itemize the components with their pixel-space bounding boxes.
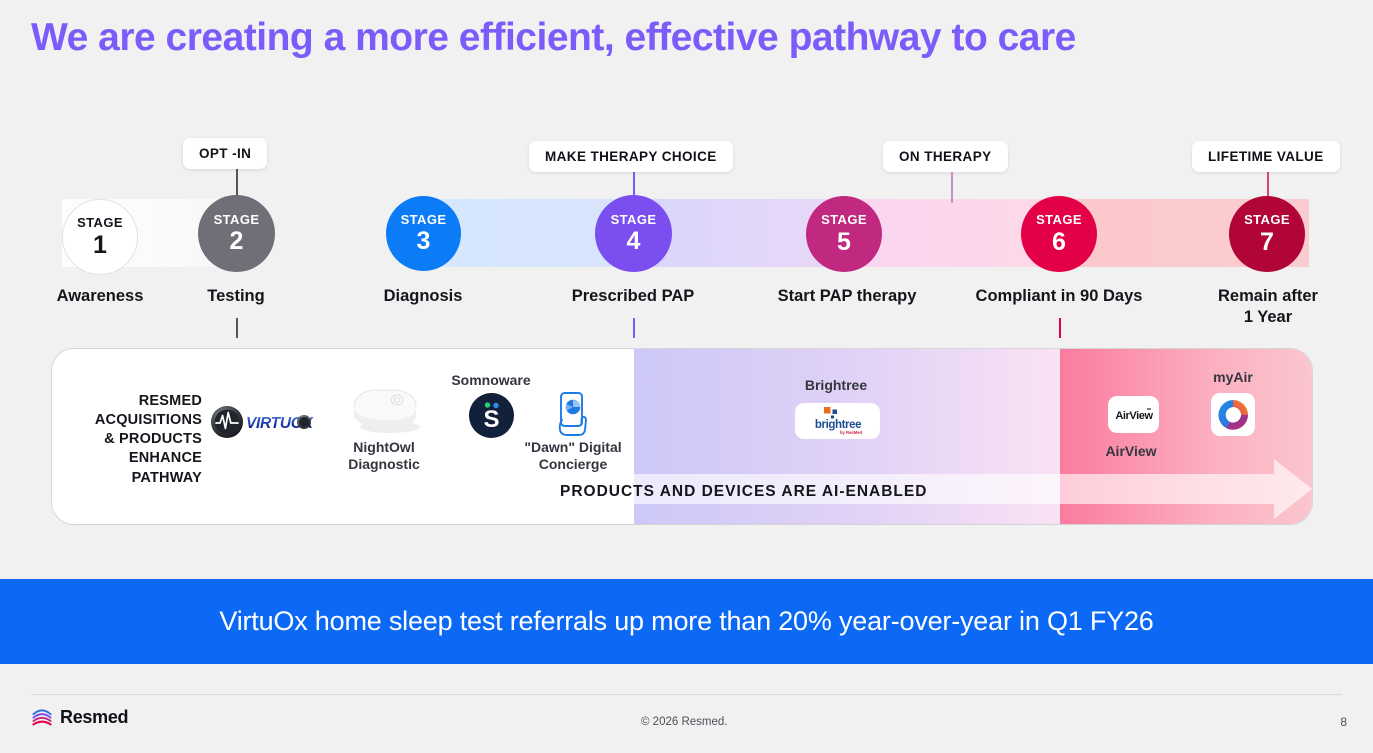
page-title: We are creating a more efficient, effect… [31, 16, 1076, 60]
product-caption-brightree: Brightree [766, 377, 906, 394]
stage-number: 3 [417, 228, 431, 254]
stage-label-6: Compliant in 90 Days [949, 286, 1169, 307]
callout-label: MAKE THERAPY CHOICE [545, 149, 717, 164]
page-number: 8 [1340, 715, 1347, 729]
highlight-banner-text: VirtuOx home sleep test referrals up mor… [219, 606, 1153, 637]
resmed-brand: Resmed [31, 706, 128, 728]
stage-circle-6[interactable]: STAGE 6 [1021, 196, 1097, 272]
stage-word: STAGE [214, 213, 260, 227]
product-somnoware[interactable]: S [469, 393, 514, 438]
myair-logo-icon [1216, 398, 1250, 432]
product-myair[interactable] [1211, 393, 1255, 436]
product-caption-nightowl: NightOwl Diagnostic [314, 439, 454, 473]
stage-number: 6 [1052, 229, 1066, 255]
callout-opt-in[interactable]: OPT -IN [183, 138, 267, 169]
callout-label: ON THERAPY [899, 149, 992, 164]
stage-circle-2[interactable]: STAGE 2 [198, 195, 275, 272]
stage-tick-2 [236, 318, 238, 338]
stage-number: 2 [230, 228, 244, 254]
stage-label-5: Start PAP therapy [744, 286, 950, 307]
stage-tick-6 [1059, 318, 1061, 338]
product-brightree[interactable]: brightree by ResMed [795, 403, 880, 439]
stage-word: STAGE [611, 213, 657, 227]
product-caption-somnoware: Somnoware [421, 372, 561, 389]
callout-lifetime-value[interactable]: LIFETIME VALUE [1192, 141, 1340, 172]
stage-tick-4 [633, 318, 635, 338]
callout-on-therapy[interactable]: ON THERAPY [883, 141, 1008, 172]
stage-circle-1[interactable]: STAGE 1 [62, 199, 138, 275]
acquisitions-heading: RESMED ACQUISITIONS & PRODUCTS ENHANCE P… [62, 392, 202, 488]
stage-word: STAGE [1244, 213, 1290, 227]
product-caption-airview: AirView [1061, 443, 1201, 460]
stage-circle-4[interactable]: STAGE 4 [595, 195, 672, 272]
svg-text:AirView: AirView [1115, 410, 1153, 422]
stage-word: STAGE [401, 213, 447, 227]
copyright-text: © 2026 Resmed. [641, 716, 727, 728]
ai-enabled-label: PRODUCTS AND DEVICES ARE AI-ENABLED [560, 483, 927, 501]
stage-circle-7[interactable]: STAGE 7 [1229, 196, 1305, 272]
brightree-logo-icon: brightree by ResMed [805, 406, 871, 436]
product-virtuox[interactable]: VIRTUOX [208, 403, 326, 441]
resmed-brand-name: Resmed [60, 707, 128, 728]
stage-word: STAGE [1036, 213, 1082, 227]
stage-label-4: Prescribed PAP [533, 286, 733, 307]
stage-number: 4 [627, 228, 641, 254]
callout-stem-on-therapy [951, 172, 953, 203]
stage-number: 1 [93, 232, 107, 258]
svg-text:S: S [483, 406, 499, 433]
callout-label: LIFETIME VALUE [1208, 149, 1324, 164]
nightowl-device-icon [344, 383, 426, 437]
airview-logo-icon: AirView [1111, 405, 1157, 425]
callout-label: OPT -IN [199, 146, 251, 161]
stage-word: STAGE [821, 213, 867, 227]
highlight-banner: VirtuOx home sleep test referrals up mor… [0, 579, 1373, 664]
stage-label-7: Remain after 1 Year [1178, 286, 1358, 328]
stage-label-3: Diagnosis [323, 286, 523, 307]
virtuox-logo-icon: VIRTUOX [208, 403, 326, 441]
dawn-digital-concierge-icon [553, 390, 593, 438]
resmed-logo-icon [31, 706, 53, 728]
product-dawn[interactable] [553, 390, 593, 438]
product-airview[interactable]: AirView [1108, 396, 1159, 433]
stage-word: STAGE [77, 216, 123, 230]
product-caption-dawn: "Dawn" Digital Concierge [503, 439, 643, 473]
footer-divider [31, 694, 1342, 695]
product-caption-myair: myAir [1163, 369, 1303, 386]
stage-label-2: Testing [136, 286, 336, 307]
stage-number: 7 [1260, 229, 1274, 255]
stage-number: 5 [837, 229, 851, 255]
svg-text:by ResMed: by ResMed [839, 430, 862, 435]
arrow-head [1274, 459, 1312, 519]
stage-circle-5[interactable]: STAGE 5 [806, 196, 882, 272]
somnoware-logo-icon: S [469, 393, 514, 438]
slide-root: We are creating a more efficient, effect… [0, 0, 1373, 753]
stage-circle-3[interactable]: STAGE 3 [386, 196, 461, 271]
product-nightowl[interactable] [344, 383, 426, 437]
callout-make-therapy-choice[interactable]: MAKE THERAPY CHOICE [529, 141, 733, 172]
